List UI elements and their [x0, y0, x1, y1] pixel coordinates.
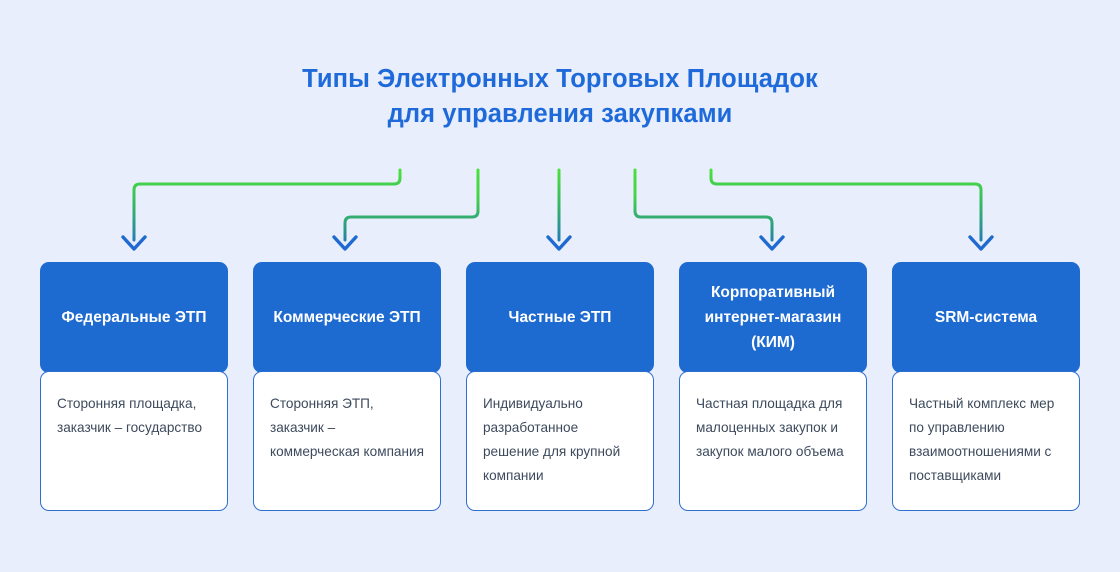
- card-commercial-etp[interactable]: Коммерческие ЭТП Сторонняя ЭТП, заказчик…: [253, 262, 441, 511]
- connector-path-4: [635, 170, 772, 240]
- card-body: Сторонняя площадка, заказчик – государст…: [40, 371, 228, 511]
- arrowhead-5: [970, 237, 992, 249]
- card-body: Частный комплекс мер по управлению взаим…: [892, 371, 1080, 511]
- card-body-text: Сторонняя ЭТП, заказчик – коммерческая к…: [270, 392, 424, 464]
- card-corporate-internet-shop[interactable]: Корпоративный интернет-магазин (КИМ) Час…: [679, 262, 867, 511]
- card-federal-etp[interactable]: Федеральные ЭТП Сторонняя площадка, зака…: [40, 262, 228, 511]
- card-heading: Частные ЭТП: [466, 262, 654, 373]
- card-body-text: Частный комплекс мер по управлению взаим…: [909, 392, 1063, 488]
- card-heading: Корпоративный интернет-магазин (КИМ): [679, 262, 867, 373]
- page-title: Типы Электронных Торговых Площадок для у…: [0, 62, 1120, 132]
- arrowhead-2: [334, 237, 356, 249]
- card-body: Сторонняя ЭТП, заказчик – коммерческая к…: [253, 371, 441, 511]
- card-private-etp[interactable]: Частные ЭТП Индивидуально разработанное …: [466, 262, 654, 511]
- card-body: Индивидуально разработанное решение для …: [466, 371, 654, 511]
- card-body-text: Сторонняя площадка, заказчик – государст…: [57, 392, 211, 440]
- card-srm-system[interactable]: SRM-система Частный комплекс мер по упра…: [892, 262, 1080, 511]
- card-heading: Коммерческие ЭТП: [253, 262, 441, 373]
- arrowhead-1: [123, 237, 145, 249]
- infographic-canvas: Типы Электронных Торговых Площадок для у…: [0, 0, 1120, 572]
- card-heading: SRM-система: [892, 262, 1080, 373]
- page-title-line-1: Типы Электронных Торговых Площадок: [0, 62, 1120, 97]
- connector-path-1: [134, 170, 400, 240]
- arrowhead-4: [761, 237, 783, 249]
- arrowhead-3: [548, 237, 570, 249]
- card-heading: Федеральные ЭТП: [40, 262, 228, 373]
- card-body-text: Индивидуально разработанное решение для …: [483, 392, 637, 488]
- card-row: Федеральные ЭТП Сторонняя площадка, зака…: [40, 262, 1080, 511]
- connector-path-2: [345, 170, 478, 240]
- page-title-line-2: для управления закупками: [0, 97, 1120, 132]
- connector-path-5: [711, 170, 981, 240]
- card-body: Частная площадка для малоценных закупок …: [679, 371, 867, 511]
- card-body-text: Частная площадка для малоценных закупок …: [696, 392, 850, 464]
